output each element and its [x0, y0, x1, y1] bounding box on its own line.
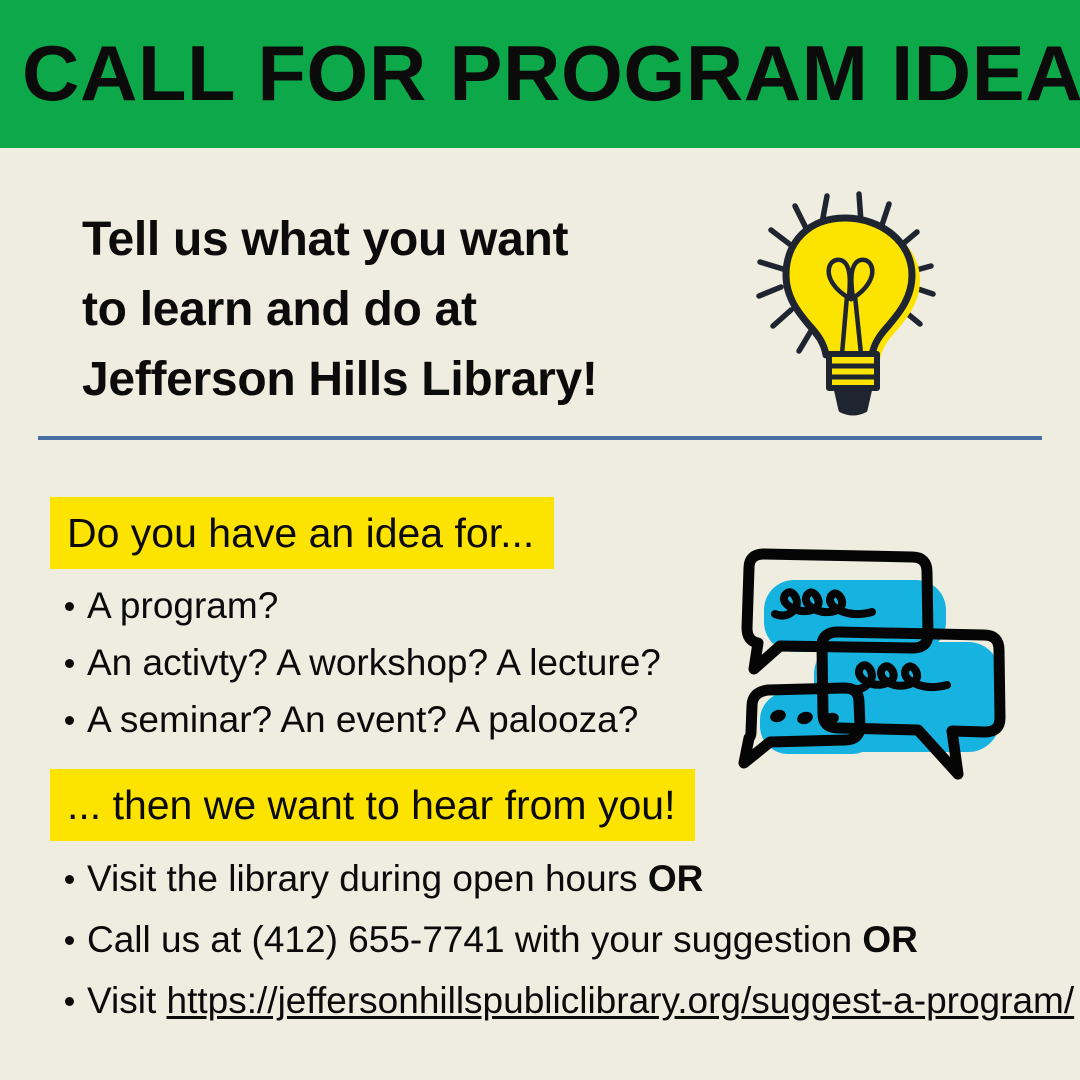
list-item-emphasis: OR — [648, 858, 704, 899]
list-item-label: An activty? A workshop? A lecture? — [87, 642, 661, 683]
list-item-emphasis: OR — [862, 919, 918, 960]
list-item: An activty? A workshop? A lecture? — [49, 635, 661, 691]
intro-line-3: Jefferson Hills Library! — [82, 345, 742, 415]
lightbulb-icon — [735, 168, 965, 420]
divider-rule — [38, 436, 1042, 440]
action-list: Visit the library during open hours OR C… — [49, 848, 1074, 1031]
list-item-label: Visit — [87, 980, 167, 1021]
page-title: CALL FOR PROGRAM IDEAS! — [22, 31, 1080, 115]
list-item: Visit https://jeffersonhillspubliclibrar… — [49, 970, 1074, 1031]
header-banner: CALL FOR PROGRAM IDEAS! — [0, 0, 1080, 148]
intro-heading: Tell us what you want to learn and do at… — [82, 205, 742, 415]
idea-list: A program? An activty? A workshop? A lec… — [49, 578, 661, 748]
list-item-label: A seminar? An event? A palooza? — [87, 699, 638, 740]
section-heading-hear-from-you: ... then we want to hear from you! — [50, 769, 695, 841]
list-item: A program? — [49, 578, 661, 634]
list-item: A seminar? An event? A palooza? — [49, 692, 661, 748]
list-item-label: Call us at (412) 655-7741 with your sugg… — [87, 919, 862, 960]
intro-line-1: Tell us what you want — [82, 205, 742, 275]
intro-line-2: to learn and do at — [82, 275, 742, 345]
list-item-label: Visit the library during open hours — [87, 858, 648, 899]
list-item: Visit the library during open hours OR — [49, 848, 1074, 909]
poster-canvas: CALL FOR PROGRAM IDEAS! Tell us what you… — [0, 0, 1080, 1080]
section-heading-ideas: Do you have an idea for... — [50, 497, 554, 569]
suggest-a-program-link[interactable]: https://jeffersonhillspubliclibrary.org/… — [167, 980, 1075, 1021]
speech-bubbles-icon — [722, 542, 1020, 790]
list-item-label: A program? — [87, 585, 278, 626]
list-item: Call us at (412) 655-7741 with your sugg… — [49, 909, 1074, 970]
